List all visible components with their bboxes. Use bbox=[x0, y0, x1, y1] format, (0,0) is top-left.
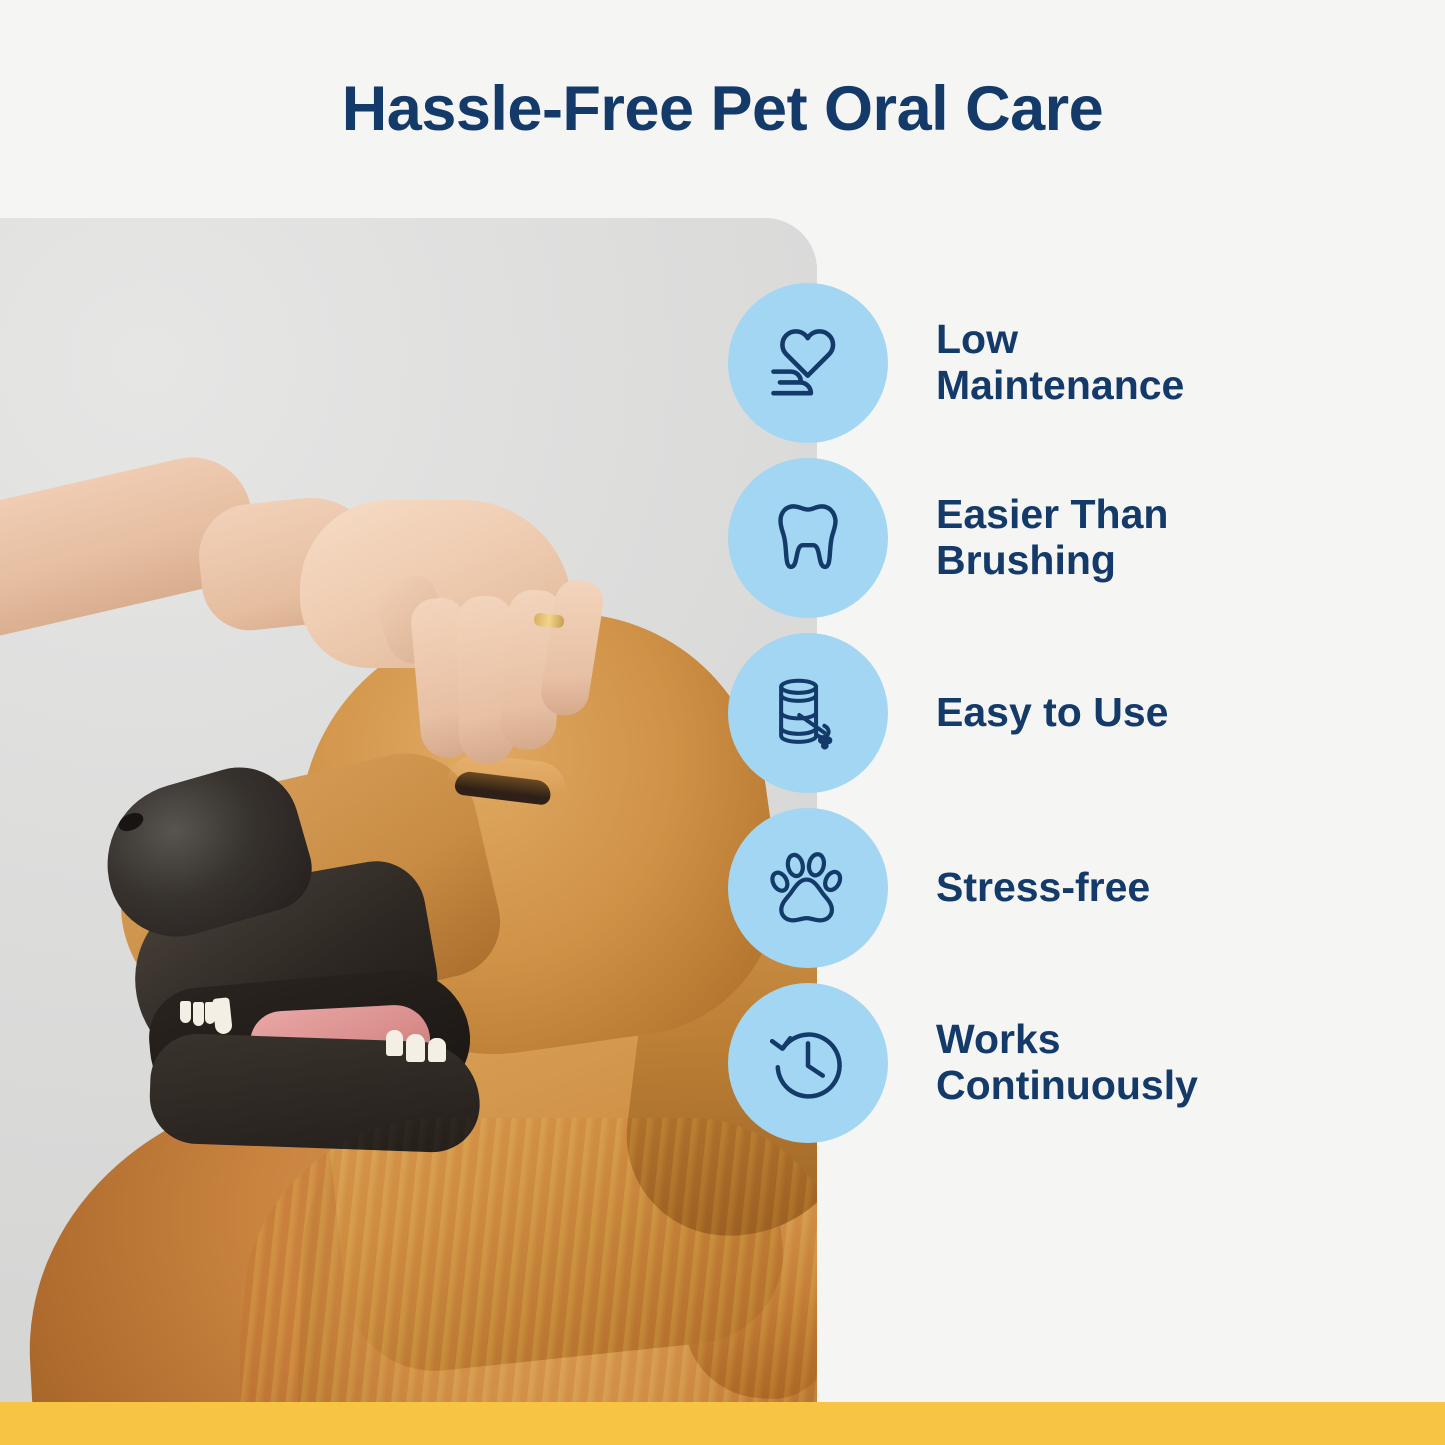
feature-label: Stress-free bbox=[936, 865, 1150, 911]
feature-list: Low Maintenance Easier Than Brushing bbox=[728, 275, 1288, 1150]
page-title: Hassle-Free Pet Oral Care bbox=[342, 78, 1103, 141]
feature-label: Works Continuously bbox=[936, 1017, 1276, 1109]
feature-label: Easy to Use bbox=[936, 690, 1168, 736]
header: Hassle-Free Pet Oral Care bbox=[0, 0, 1445, 218]
feature-item-easy-to-use: Easy to Use bbox=[728, 625, 1288, 800]
feature-item-works-continuously: Works Continuously bbox=[728, 975, 1288, 1150]
human-hand bbox=[0, 218, 817, 1402]
jar-with-scoop-icon bbox=[728, 633, 888, 793]
clock-refresh-icon bbox=[728, 983, 888, 1143]
feature-label: Low Maintenance bbox=[936, 317, 1276, 409]
bottom-accent-bar bbox=[0, 1402, 1445, 1445]
feature-item-stress-free: Stress-free bbox=[728, 800, 1288, 975]
paw-print-icon bbox=[728, 808, 888, 968]
feature-label: Easier Than Brushing bbox=[936, 492, 1276, 584]
feature-item-low-maintenance: Low Maintenance bbox=[728, 275, 1288, 450]
tooth-icon bbox=[728, 458, 888, 618]
feature-item-easier-than-brushing: Easier Than Brushing bbox=[728, 450, 1288, 625]
hero-photo bbox=[0, 218, 817, 1402]
heart-in-hand-icon bbox=[728, 283, 888, 443]
